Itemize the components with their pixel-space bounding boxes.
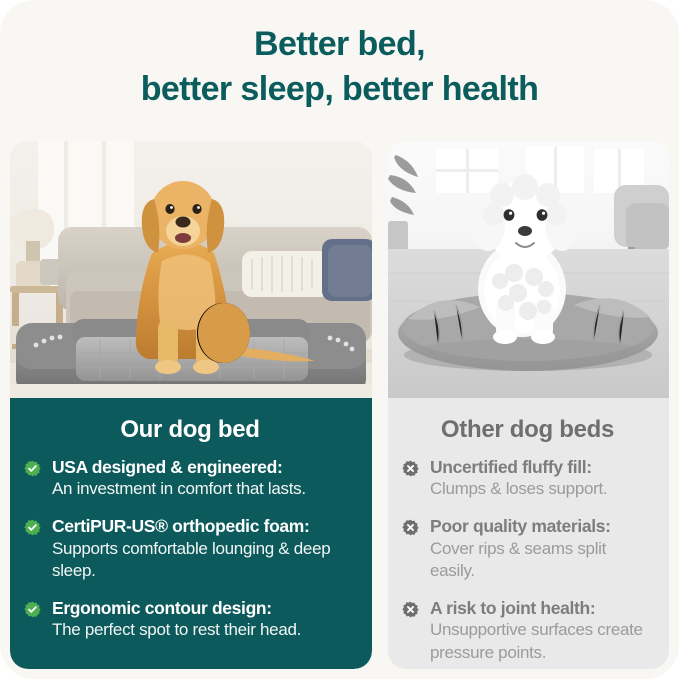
drawback-body: Cover rips & seams split easily. <box>430 538 653 582</box>
drawback-body: Clumps & loses support. <box>430 478 653 500</box>
drawback-heading: Uncertified fluffy fill: <box>430 456 653 478</box>
benefit-heading: USA designed & engineered: <box>52 456 356 478</box>
benefit-heading: Ergonomic contour design: <box>52 597 356 619</box>
benefit-text: USA designed & engineered: An investment… <box>52 456 356 500</box>
list-item: Uncertified fluffy fill: Clumps & loses … <box>402 456 653 500</box>
drawback-text: Uncertified fluffy fill: Clumps & loses … <box>430 456 653 500</box>
list-item: A risk to joint health: Unsupportive sur… <box>402 597 653 664</box>
list-item: CertiPUR-US® orthopedic foam: Supports c… <box>24 515 356 582</box>
x-badge-icon <box>402 601 419 618</box>
drawback-text: Poor quality materials: Cover rips & sea… <box>430 515 653 582</box>
drawback-heading: A risk to joint health: <box>430 597 653 619</box>
check-badge-icon <box>24 460 41 477</box>
page-title: Better bed, better sleep, better health <box>0 22 679 112</box>
list-item: Poor quality materials: Cover rips & sea… <box>402 515 653 582</box>
other-dog-beds-panel: Other dog beds Uncertified fluffy fill: … <box>388 398 669 669</box>
drawback-text: A risk to joint health: Unsupportive sur… <box>430 597 653 664</box>
our-dog-bed-benefits-list: USA designed & engineered: An investment… <box>24 456 356 642</box>
column-other-dog-beds: Other dog beds Uncertified fluffy fill: … <box>388 141 669 669</box>
comparison-infographic-card: Better bed, better sleep, better health <box>0 0 679 679</box>
benefit-heading: CertiPUR-US® orthopedic foam: <box>52 515 356 537</box>
white-dog-on-flat-pillow-photo <box>388 141 669 398</box>
column-our-dog-bed: Our dog bed USA designed & engineered: A… <box>10 141 372 669</box>
our-dog-bed-title: Our dog bed <box>24 416 356 444</box>
our-dog-bed-panel: Our dog bed USA designed & engineered: A… <box>10 398 372 669</box>
x-badge-icon <box>402 519 419 536</box>
check-badge-icon <box>24 519 41 536</box>
check-badge-icon <box>24 601 41 618</box>
x-badge-icon <box>402 460 419 477</box>
list-item: USA designed & engineered: An investment… <box>24 456 356 500</box>
headline-line-2: better sleep, better health <box>14 67 665 112</box>
list-item: Ergonomic contour design: The perfect sp… <box>24 597 356 641</box>
benefit-body: Supports comfortable lounging & deep sle… <box>52 538 356 582</box>
drawback-body: Unsupportive surfaces create pressure po… <box>430 619 653 663</box>
benefit-body: An investment in comfort that lasts. <box>52 478 356 500</box>
comparison-columns: Our dog bed USA designed & engineered: A… <box>10 141 669 669</box>
other-dog-beds-title: Other dog beds <box>402 416 653 444</box>
benefit-text: CertiPUR-US® orthopedic foam: Supports c… <box>52 515 356 582</box>
golden-retriever-on-bolster-bed-photo <box>10 141 372 398</box>
benefit-text: Ergonomic contour design: The perfect sp… <box>52 597 356 641</box>
headline-line-1: Better bed, <box>14 22 665 67</box>
other-dog-beds-drawbacks-list: Uncertified fluffy fill: Clumps & loses … <box>402 456 653 664</box>
drawback-heading: Poor quality materials: <box>430 515 653 537</box>
benefit-body: The perfect spot to rest their head. <box>52 619 356 641</box>
